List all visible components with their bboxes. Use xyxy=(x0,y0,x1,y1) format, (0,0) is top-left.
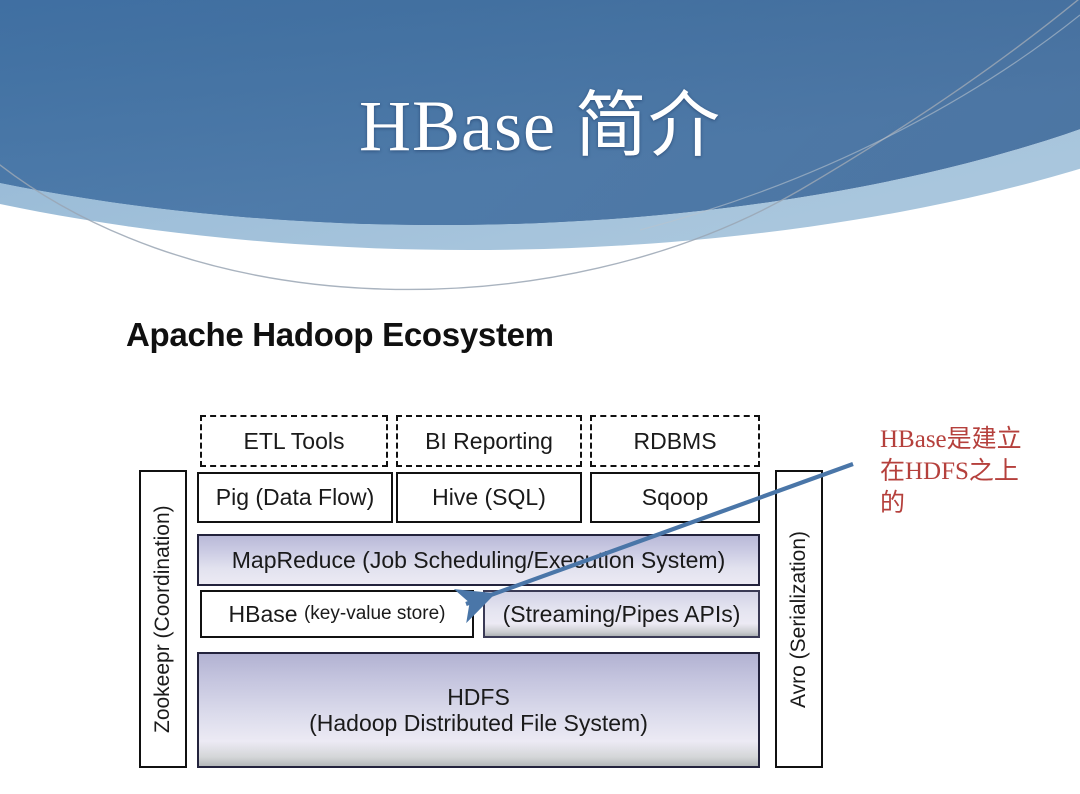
mapreduce-bar: MapReduce (Job Scheduling/Execution Syst… xyxy=(197,534,760,586)
dashed-box-label: BI Reporting xyxy=(425,428,553,454)
dashed-box-etl-tools: ETL Tools xyxy=(200,415,388,467)
hbase-sublabel: (key-value store) xyxy=(304,603,446,625)
tool-box-label: Pig (Data Flow) xyxy=(216,484,374,510)
tool-box-label: Hive (SQL) xyxy=(432,484,546,510)
hdfs-box: HDFS (Hadoop Distributed File System) xyxy=(197,652,760,768)
dashed-box-rdbms: RDBMS xyxy=(590,415,760,467)
hdfs-sublabel: (Hadoop Distributed File System) xyxy=(309,710,648,736)
tool-box-hive: Hive (SQL) xyxy=(396,472,582,523)
side-label-zookeeper: Zookeepr (Coordination) xyxy=(139,470,187,768)
tool-box-label: Sqoop xyxy=(642,484,709,510)
hbase-box: HBase (key-value store) xyxy=(200,590,474,638)
red-annotation-text: HBase是建立在HDFS之上的 xyxy=(880,424,1040,520)
hbase-label: HBase xyxy=(229,601,298,627)
streaming-pipes-box: (Streaming/Pipes APIs) xyxy=(483,590,760,638)
hdfs-label: HDFS xyxy=(447,684,510,710)
dashed-box-label: RDBMS xyxy=(633,428,716,454)
tool-box-pig: Pig (Data Flow) xyxy=(197,472,393,523)
page-title: HBase 简介 xyxy=(0,66,1080,171)
side-label-text: Avro (Serialization) xyxy=(787,531,811,708)
side-label-avro: Avro (Serialization) xyxy=(775,470,823,768)
streaming-pipes-label: (Streaming/Pipes APIs) xyxy=(503,601,741,627)
tool-box-sqoop: Sqoop xyxy=(590,472,760,523)
dashed-box-label: ETL Tools xyxy=(244,428,345,454)
side-label-text: Zookeepr (Coordination) xyxy=(151,505,175,733)
dashed-box-bi-reporting: BI Reporting xyxy=(396,415,582,467)
mapreduce-label: MapReduce (Job Scheduling/Execution Syst… xyxy=(232,547,725,573)
